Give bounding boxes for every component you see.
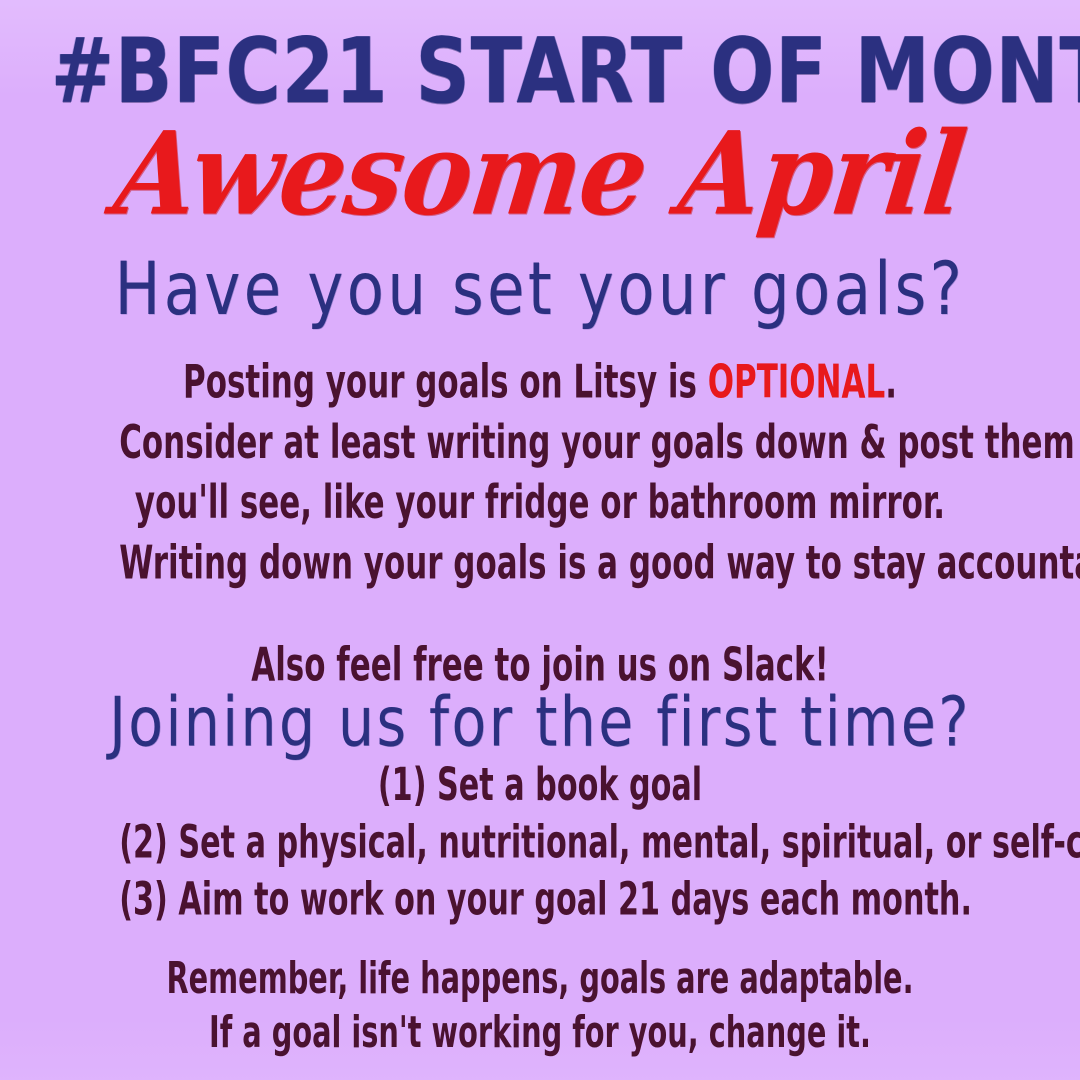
poster-headline: #BFC21 START OF MONTH 4 (51, 26, 1029, 118)
intro-line-4: Writing down your goals is a good way to… (119, 534, 961, 594)
intro-paragraph: Posting your goals on Litsy is OPTIONAL.… (119, 353, 961, 594)
intro-line-1: Posting your goals on Litsy is OPTIONAL. (119, 353, 961, 413)
intro-line-2: Consider at least writing your goals dow… (119, 413, 961, 473)
intro-line-3: you'll see, like your fridge or bathroom… (119, 474, 961, 534)
optional-emphasis: OPTIONAL (708, 355, 885, 409)
poster-canvas: #BFC21 START OF MONTH 4 Awesome April Ha… (0, 0, 1080, 1080)
goals-question-heading: Have you set your goals? (25, 250, 1056, 327)
closing-paragraph: Remember, life happens, goals are adapta… (119, 952, 961, 1061)
intro-line-1-after: . (885, 355, 897, 409)
steps-list: (1) Set a book goal (2) Set a physical, … (119, 757, 961, 928)
poster-script-title: Awesome April (7, 117, 1073, 231)
step-item-3: (3) Aim to work on your goal 21 days eac… (119, 872, 961, 929)
first-time-question-heading: Joining us for the first time? (25, 687, 1056, 759)
intro-line-1-before: Posting your goals on Litsy is (183, 355, 708, 409)
closing-line-2: If a goal isn't working for you, change … (119, 1006, 961, 1060)
poster-content: #BFC21 START OF MONTH 4 Awesome April Ha… (0, 0, 1080, 1080)
closing-line-1: Remember, life happens, goals are adapta… (119, 952, 961, 1006)
author-handle: @wanderinglynn (14, 1076, 1066, 1080)
step-item-1: (1) Set a book goal (119, 757, 961, 814)
step-item-2: (2) Set a physical, nutritional, mental,… (119, 814, 961, 871)
